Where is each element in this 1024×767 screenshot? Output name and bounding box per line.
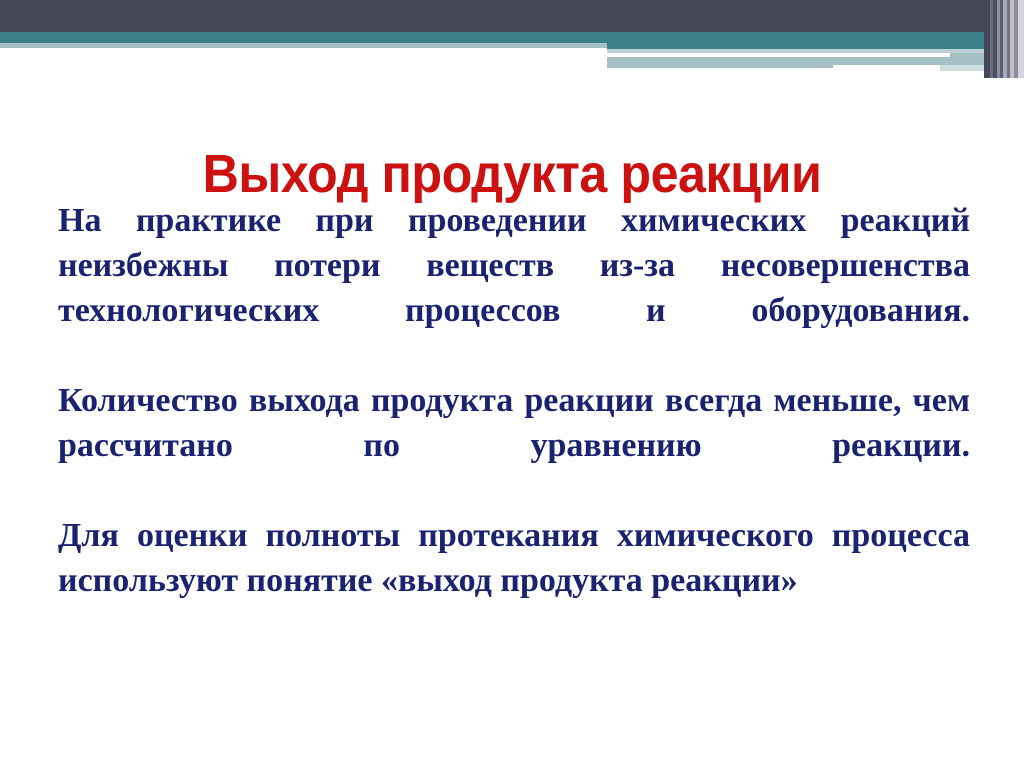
header-banner — [0, 0, 1024, 78]
body-text: На практике при проведении химических ре… — [58, 198, 970, 603]
banner-stripe-9 — [1018, 0, 1024, 78]
paragraph-2: Количество выхода продукта реакции всегд… — [58, 378, 970, 513]
slide: Выход продукта реакции На практике при п… — [0, 0, 1024, 767]
page-title: Выход продукта реакции — [36, 144, 988, 204]
banner-dark-band — [0, 0, 1024, 32]
paragraph-1: На практике при проведении химических ре… — [58, 198, 970, 378]
banner-vertical-stripes — [984, 0, 1024, 78]
paragraph-3: Для оценки полноты протекания химическог… — [58, 513, 970, 603]
banner-teal-band — [0, 32, 1024, 43]
